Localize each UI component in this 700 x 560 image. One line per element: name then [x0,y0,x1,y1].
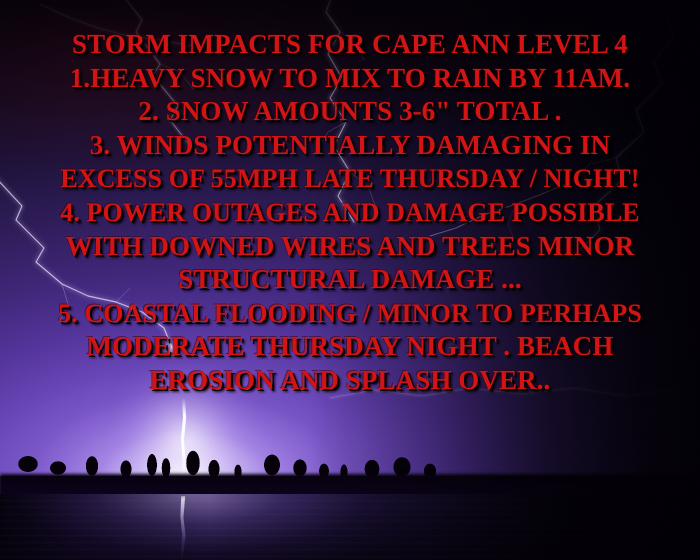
warning-line-impact-3a: 3. WINDS POTENTIALLY DAMAGING IN [0,129,700,163]
warning-line-impact-2: 2. SNOW AMOUNTS 3-6" TOTAL . [0,95,700,129]
warning-line-impact-4c: STRUCTURAL DAMAGE ... [0,263,700,297]
warning-line-headline: STORM IMPACTS FOR CAPE ANN LEVEL 4 [0,28,700,62]
warning-line-impact-4b: WITH DOWNED WIRES AND TREES MINOR [0,230,700,264]
warning-line-impact-5c: EROSION AND SPLASH OVER.. [0,364,700,398]
warning-line-impact-5a: 5. COASTAL FLOODING / MINOR TO PERHAPS [0,297,700,331]
warning-line-impact-5b: MODERATE THURSDAY NIGHT . BEACH [0,330,700,364]
water-ripples [0,500,700,560]
warning-text-block: STORM IMPACTS FOR CAPE ANN LEVEL 4 1.HEA… [0,28,700,398]
warning-line-impact-1: 1.HEAVY SNOW TO MIX TO RAIN BY 11AM. [0,62,700,96]
storm-impacts-graphic: STORM IMPACTS FOR CAPE ANN LEVEL 4 1.HEA… [0,0,700,560]
warning-line-impact-4a: 4. POWER OUTAGES AND DAMAGE POSSIBLE [0,196,700,230]
warning-line-impact-3b: EXCESS OF 55MPH LATE THURSDAY / NIGHT! [0,162,700,196]
